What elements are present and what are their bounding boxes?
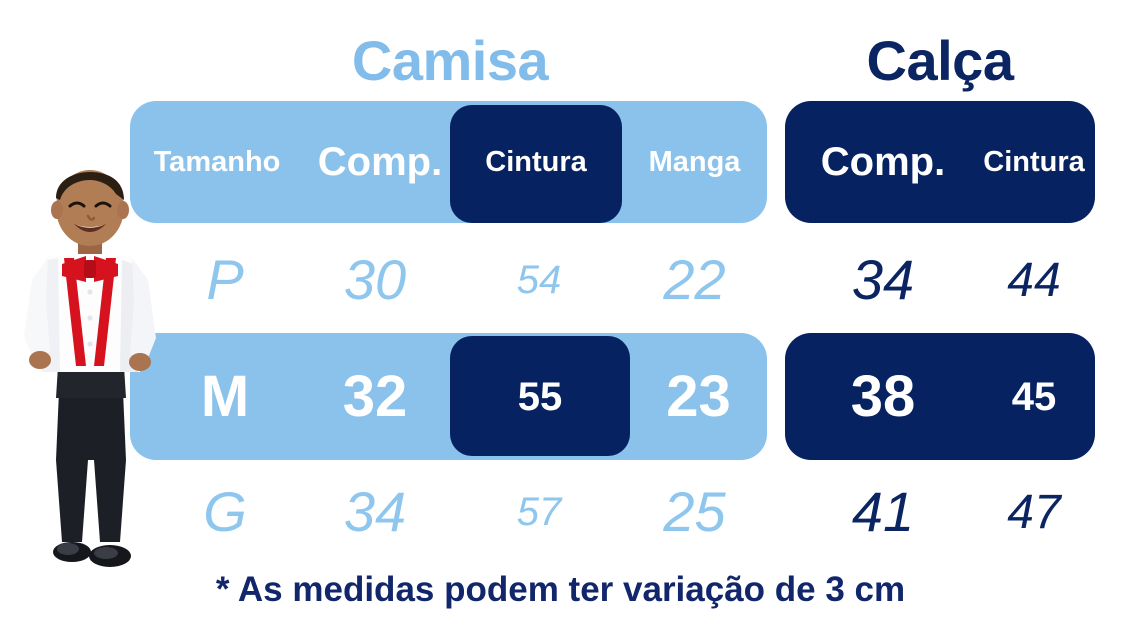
shirt-row-g-comp: 34 [300,480,450,544]
shirt-row-g-manga: 25 [622,480,767,544]
pants-header-cintura: Cintura [973,140,1095,184]
shirt-row-m-manga: 23 [630,364,767,430]
size-chart-canvas: Camisa Calça Tamanho Comp. Cintura Manga… [0,0,1121,627]
pants-row-p-comp: 34 [793,248,973,312]
shirt-header-manga: Manga [622,140,767,184]
shirt-header-comp: Comp. [300,136,460,188]
shirt-row-p-comp: 30 [300,248,450,312]
shirt-row-m-comp: 32 [300,364,450,430]
pants-header-comp: Comp. [793,136,973,188]
pants-row-m-cintura: 45 [973,370,1095,424]
section-title-shirt: Camisa [330,28,570,93]
pants-row-m-comp: 38 [793,364,973,430]
shirt-row-m-cintura: 55 [450,370,630,424]
shirt-row-p-cintura: 54 [455,254,623,306]
shirt-header-cintura: Cintura [450,140,622,184]
section-title-pants: Calça [785,28,1095,93]
pants-row-g-cintura: 47 [973,484,1095,542]
shirt-row-p-manga: 22 [622,248,767,312]
pants-row-g-comp: 41 [793,480,973,544]
pants-row-p-cintura: 44 [973,252,1095,310]
boy-model-photo [2,160,178,600]
shirt-row-g-cintura: 57 [455,486,623,538]
